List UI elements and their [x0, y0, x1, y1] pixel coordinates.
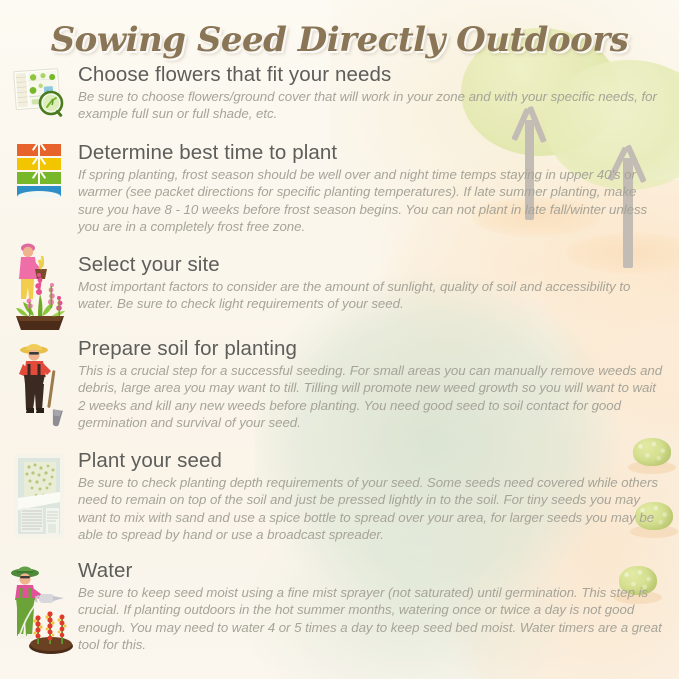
gardener-planting-flowers-icon: [8, 242, 70, 334]
infographic-poster: Sowing Seed Directly Outdoors: [0, 0, 679, 679]
step-body: Be sure to check planting depth requirem…: [78, 474, 665, 543]
step-heading: Plant your seed: [78, 450, 665, 473]
step-icon-cell: [0, 64, 78, 118]
step-text-cell: Choose flowers that fit your needs Be su…: [78, 64, 679, 123]
step-item-select-site: Select your site Most important factors …: [0, 254, 679, 338]
step-heading: Select your site: [78, 254, 665, 277]
step-heading: Water: [78, 560, 665, 583]
step-heading: Prepare soil for planting: [78, 338, 665, 361]
step-icon-cell: [0, 254, 78, 334]
step-body: Be sure to choose flowers/ground cover t…: [78, 88, 665, 123]
gardener-watering-can-icon: [3, 560, 75, 660]
step-body: Most important factors to consider are t…: [78, 278, 665, 313]
step-body: This is a crucial step for a successful …: [78, 362, 665, 431]
steps-list: Choose flowers that fit your needs Be su…: [0, 64, 679, 670]
season-autumn-bar: [17, 144, 61, 156]
step-heading: Choose flowers that fit your needs: [78, 64, 665, 87]
step-item-prepare-soil: Prepare soil for planting This is a cruc…: [0, 338, 679, 450]
step-icon-cell: [0, 450, 78, 540]
step-text-cell: Determine best time to plant If spring p…: [78, 142, 679, 235]
watering-can: [36, 594, 64, 603]
magnifier: [40, 92, 63, 117]
step-icon-cell: [0, 338, 78, 436]
step-item-plant-seed: Plant your seed Be sure to check plantin…: [0, 450, 679, 560]
gardener-with-shovel-icon: [8, 338, 70, 436]
seed-packet-icon: [10, 452, 68, 540]
step-item-choose-flowers: Choose flowers that fit your needs Be su…: [0, 64, 679, 142]
season-summer-bar: [17, 158, 61, 170]
step-text-cell: Select your site Most important factors …: [78, 254, 679, 313]
page-title: Sowing Seed Directly Outdoors: [0, 20, 679, 60]
step-item-determine-time: Determine best time to plant If spring p…: [0, 142, 679, 254]
garden-plan-magnifier-icon: [11, 66, 67, 118]
step-heading: Determine best time to plant: [78, 142, 665, 165]
season-spring-bar: [17, 172, 61, 184]
step-item-water: Water Be sure to keep seed moist using a…: [0, 560, 679, 670]
step-body: If spring planting, frost season should …: [78, 166, 665, 235]
step-icon-cell: [0, 142, 78, 200]
step-text-cell: Water Be sure to keep seed moist using a…: [78, 560, 679, 653]
step-text-cell: Plant your seed Be sure to check plantin…: [78, 450, 679, 543]
step-icon-cell: [0, 560, 78, 660]
step-body: Be sure to keep seed moist using a fine …: [78, 584, 665, 653]
step-text-cell: Prepare soil for planting This is a cruc…: [78, 338, 679, 431]
four-seasons-bars-icon: [17, 144, 61, 200]
season-winter-bar: [17, 186, 61, 198]
